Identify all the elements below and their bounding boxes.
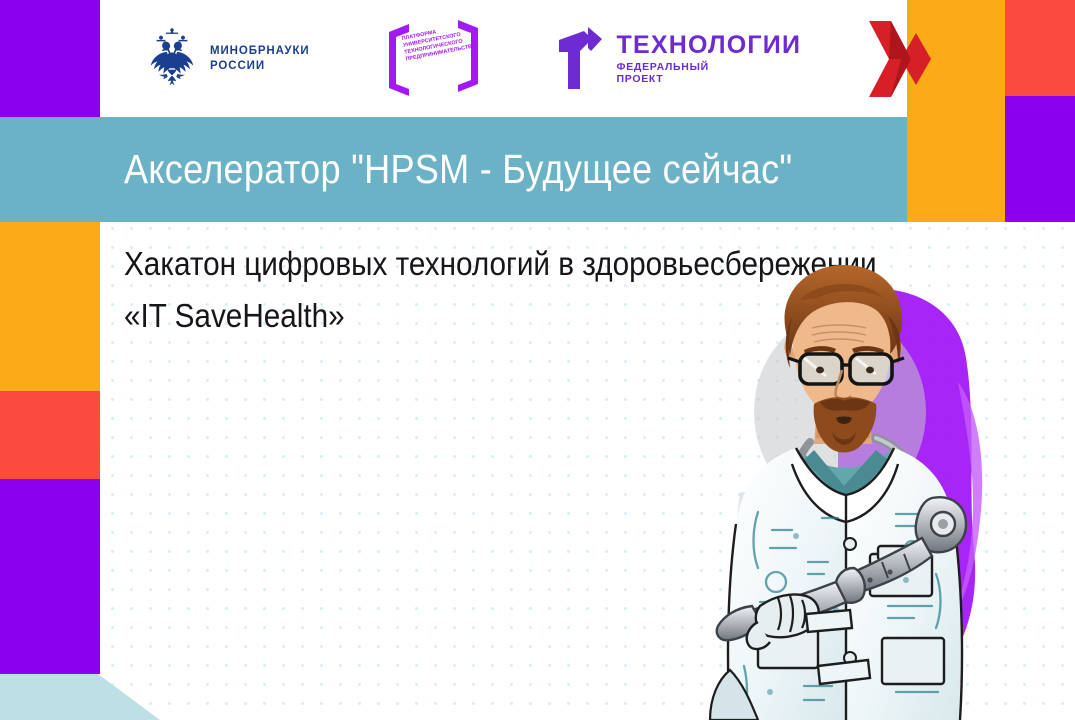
red-chevron-diamond-mark-icon: [865, 19, 935, 99]
logo-strip: МИНОБРНАУКИ РОССИИ ПЛАТФОРМА УНИВЕРСИТЕТ…: [100, 0, 907, 117]
logo-tehnologii-sub-line1: ФЕДЕРАЛЬНЫЙ: [617, 61, 802, 74]
logo-tehnologii: ТЕХНОЛОГИИ ФЕДЕРАЛЬНЫЙ ПРОЕКТ: [558, 27, 802, 91]
logo-minobrnauki-label: МИНОБРНАУКИ РОССИИ: [210, 44, 310, 74]
logo-platform: ПЛАТФОРМА УНИВЕРСИТЕТСКОГО ТЕХНОЛОГИЧЕСК…: [376, 18, 492, 100]
decor-wedge-bottom-left: [0, 674, 160, 720]
slide-title: Акселератор "HPSM - Будущее сейчас": [124, 146, 792, 193]
logo-minobrnauki-line2: РОССИИ: [210, 59, 310, 74]
slide-subtitle: Хакатон цифровых технологий в здоровьесб…: [124, 238, 808, 342]
logo-red-mark: [865, 19, 935, 99]
title-banner: Акселератор "HPSM - Будущее сейчас": [0, 117, 907, 222]
slide-subtitle-line1: Хакатон цифровых технологий в здоровьесб…: [124, 238, 808, 290]
logo-tehnologii-title: ТЕХНОЛОГИИ: [617, 32, 802, 58]
double-headed-eagle-icon: [145, 26, 199, 92]
logo-tehnologii-sub: ФЕДЕРАЛЬНЫЙ ПРОЕКТ: [617, 61, 802, 86]
logo-minobrnauki: МИНОБРНАУКИ РОССИИ: [145, 26, 310, 92]
logo-tehnologii-label: ТЕХНОЛОГИИ ФЕДЕРАЛЬНЫЙ ПРОЕКТ: [617, 32, 802, 86]
logo-tehnologii-sub-line2: ПРОЕКТ: [617, 73, 802, 86]
arrow-one-mark-icon: [558, 27, 610, 91]
glasses: [788, 354, 904, 384]
decor-band-left-purple-top: [0, 0, 100, 118]
presentation-slide: МИНОБРНАУКИ РОССИИ ПЛАТФОРМА УНИВЕРСИТЕТ…: [0, 0, 1075, 720]
decor-band-left-orange: [0, 211, 100, 391]
slide-subtitle-line2: «IT SaveHealth»: [124, 290, 808, 342]
decor-band-left-purple-bottom: [0, 479, 100, 674]
decor-band-right-red: [1005, 0, 1075, 96]
bracket-frame-icon: ПЛАТФОРМА УНИВЕРСИТЕТСКОГО ТЕХНОЛОГИЧЕСК…: [376, 18, 492, 100]
prosthetic-arm: [717, 497, 966, 640]
decor-band-right-purple: [1005, 96, 1075, 222]
logo-minobrnauki-line1: МИНОБРНАУКИ: [210, 44, 310, 59]
decor-band-left-red: [0, 391, 100, 479]
gloved-hand: [747, 594, 819, 649]
